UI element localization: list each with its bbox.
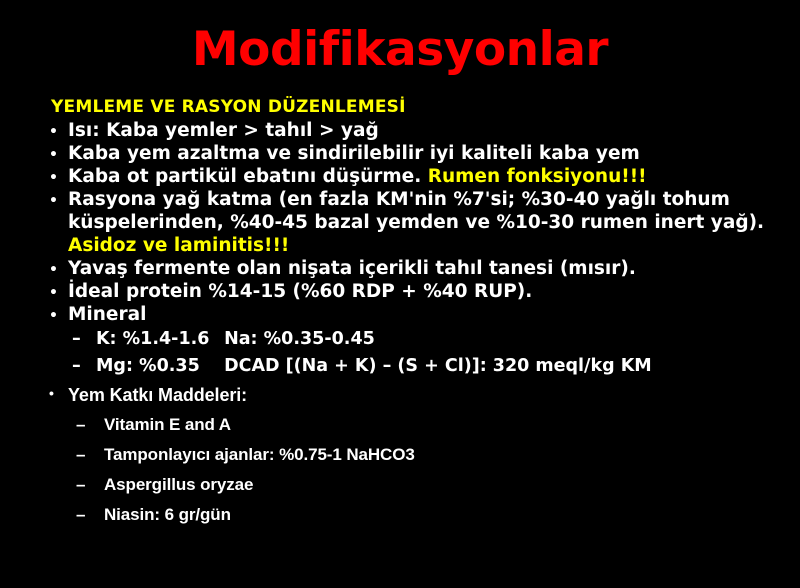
page-title: Modifikasyonlar	[0, 22, 800, 78]
list-item-highlight: Rumen fonksiyonu!!!	[428, 166, 647, 187]
list-item-label: Yavaş fermente olan nişata içerikli tahı…	[68, 258, 636, 279]
list-item: • Kaba ot partikül ebatını düşürme. Rume…	[40, 165, 800, 188]
list-item: • Kaba yem azaltma ve sindirilebilir iyi…	[40, 142, 800, 165]
additive-item: – Tamponlayıcı ajanlar: %0.75-1 NaHCO3	[74, 440, 800, 470]
list-item-label: Mineral	[68, 304, 146, 325]
additive-item-label: Vitamin E and A	[104, 415, 231, 434]
mineral-left-value: Mg: %0.35	[96, 353, 218, 380]
dash-icon: –	[72, 326, 81, 353]
mineral-left-value: K: %1.4-1.6	[96, 326, 218, 353]
bullet-icon: •	[49, 303, 58, 330]
list-item-label: Isı: Kaba yemler > tahıl > yağ	[68, 120, 379, 141]
presentation-slide: Modifikasyonlar YEMLEME VE RASYON DÜZENL…	[0, 0, 800, 588]
additive-item-label: Tamponlayıcı ajanlar: %0.75-1 NaHCO3	[104, 445, 415, 464]
list-item: • Yavaş fermente olan nişata içerikli ta…	[40, 257, 800, 280]
bullet-icon: •	[49, 188, 58, 215]
additive-item: – Aspergillus oryzae	[74, 470, 800, 500]
mineral-row: – Mg: %0.35 DCAD [(Na + K) – (S + Cl)]: …	[68, 353, 800, 380]
list-item-label: Kaba ot partikül ebatını düşürme.	[68, 166, 421, 187]
list-item-label-line-2: küspelerinden, %40-45 bazal yemden ve %1…	[68, 211, 800, 234]
list-item-label: İdeal protein %14-15 (%60 RDP + %40 RUP)…	[68, 281, 532, 302]
additive-item-label: Aspergillus oryzae	[104, 475, 253, 494]
dash-icon: –	[76, 440, 85, 470]
dash-icon: –	[72, 353, 81, 380]
list-item: • Rasyona yağ katma (en fazla KM'nin %7'…	[40, 188, 800, 257]
list-item-highlight: Asidoz ve laminitis!!!	[68, 234, 800, 257]
bullet-icon: •	[49, 380, 54, 407]
slide-body: YEMLEME VE RASYON DÜZENLEMESİ • Isı: Kab…	[0, 96, 800, 530]
additive-item-label: Niasin: 6 gr/gün	[104, 505, 231, 524]
mineral-right-value: Na: %0.35-0.45	[224, 326, 375, 353]
mineral-row: – K: %1.4-1.6 Na: %0.35-0.45	[68, 326, 800, 353]
additive-item: – Vitamin E and A	[74, 410, 800, 440]
section-heading: YEMLEME VE RASYON DÜZENLEMESİ	[51, 96, 800, 119]
list-item-label-line-1: Rasyona yağ katma (en fazla KM'nin %7'si…	[68, 188, 800, 211]
list-item-label: Kaba yem azaltma ve sindirilebilir iyi k…	[68, 143, 640, 164]
dash-icon: –	[76, 500, 85, 530]
dash-icon: –	[76, 410, 85, 440]
dash-icon: –	[76, 470, 85, 500]
list-item: • Yem Katkı Maddeleri:	[40, 380, 800, 410]
list-item: • Mineral	[40, 303, 800, 326]
list-item: • Isı: Kaba yemler > tahıl > yağ	[40, 119, 800, 142]
list-item-label: Yem Katkı Maddeleri:	[68, 385, 247, 405]
list-item: • İdeal protein %14-15 (%60 RDP + %40 RU…	[40, 280, 800, 303]
additive-item: – Niasin: 6 gr/gün	[74, 500, 800, 530]
mineral-right-value: DCAD [(Na + K) – (S + Cl)]: 320 meql/kg …	[224, 353, 652, 380]
